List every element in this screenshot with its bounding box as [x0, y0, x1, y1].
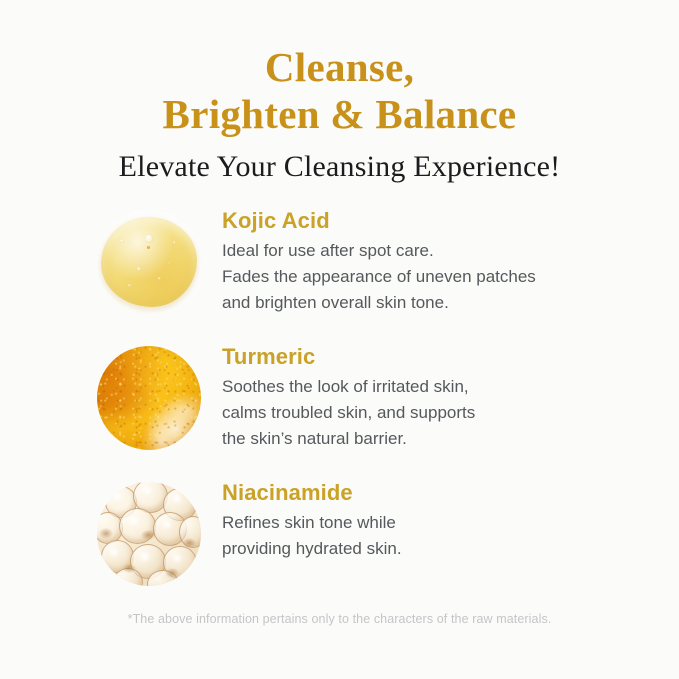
- bubble-shadow: [123, 564, 136, 573]
- bubble-icon: [173, 241, 176, 244]
- gel-drop-shape: [101, 217, 197, 307]
- bubble-icon: [168, 262, 170, 264]
- ingredient-name: Turmeric: [222, 344, 679, 370]
- niacinamide-swatch-wrap: [95, 478, 203, 590]
- description-line: and brighten overall skin tone.: [222, 290, 679, 316]
- bubble-highlight: [171, 494, 183, 503]
- niacinamide-bubbles-image: [97, 482, 201, 586]
- description-line: Soothes the look of irritated skin,: [222, 374, 679, 400]
- list-item: Niacinamide Refines skin tone while prov…: [0, 478, 679, 590]
- list-item: Kojic Acid Ideal for use after spot care…: [0, 206, 679, 318]
- bubble-highlight: [171, 554, 183, 563]
- ingredient-name: Niacinamide: [222, 480, 679, 506]
- bubble-icon: [116, 263, 118, 265]
- description-line: Ideal for use after spot care.: [222, 238, 679, 264]
- bubble-highlight: [141, 486, 154, 495]
- kojic-acid-copy: Kojic Acid Ideal for use after spot care…: [203, 206, 679, 316]
- kojic-acid-gel-drop-image: [97, 210, 201, 314]
- ingredient-description: Soothes the look of irritated skin, calm…: [222, 374, 679, 452]
- bubble-shadow: [183, 538, 196, 548]
- page-title-line-2: Brighten & Balance: [0, 91, 679, 138]
- bubble-highlight: [138, 552, 152, 562]
- bubble-icon: [145, 234, 153, 243]
- niacinamide-copy: Niacinamide Refines skin tone while prov…: [203, 478, 679, 562]
- turmeric-copy: Turmeric Soothes the look of irritated s…: [203, 342, 679, 452]
- description-line: Fades the appearance of uneven patches: [222, 264, 679, 290]
- ingredient-name: Kojic Acid: [222, 208, 679, 234]
- footnote: *The above information pertains only to …: [0, 612, 679, 626]
- bubble-icon: [120, 239, 124, 243]
- product-ingredients-infographic: Cleanse, Brighten & Balance Elevate Your…: [0, 0, 679, 679]
- bubble-icon: [158, 277, 161, 280]
- bubble-shadow: [165, 568, 179, 578]
- ingredient-list: Kojic Acid Ideal for use after spot care…: [0, 206, 679, 614]
- description-line: Refines skin tone while: [222, 510, 679, 536]
- bubble-highlight: [111, 492, 123, 501]
- powder-texture: [97, 346, 201, 450]
- bubble-icon: [128, 284, 131, 287]
- description-line: providing hydrated skin.: [222, 536, 679, 562]
- turmeric-swatch-wrap: [95, 342, 203, 454]
- ingredient-description: Ideal for use after spot care. Fades the…: [222, 238, 679, 316]
- page-subtitle: Elevate Your Cleansing Experience!: [0, 149, 679, 185]
- bubble-highlight: [127, 516, 141, 526]
- bubble-highlight: [108, 548, 120, 557]
- bubble-shadow: [141, 530, 156, 540]
- bubble-shadow: [99, 528, 113, 539]
- bubble-highlight: [161, 520, 173, 529]
- header: Cleanse, Brighten & Balance Elevate Your…: [0, 44, 679, 185]
- page-title-line-1: Cleanse,: [0, 44, 679, 91]
- ingredient-description: Refines skin tone while providing hydrat…: [222, 510, 679, 562]
- list-item: Turmeric Soothes the look of irritated s…: [0, 342, 679, 454]
- description-line: the skin’s natural barrier.: [222, 426, 679, 452]
- bubble-icon: [147, 246, 150, 249]
- bubble-icon: [137, 267, 141, 271]
- kojic-acid-swatch-wrap: [95, 206, 203, 318]
- description-line: calms troubled skin, and supports: [222, 400, 679, 426]
- turmeric-powder-image: [97, 346, 201, 450]
